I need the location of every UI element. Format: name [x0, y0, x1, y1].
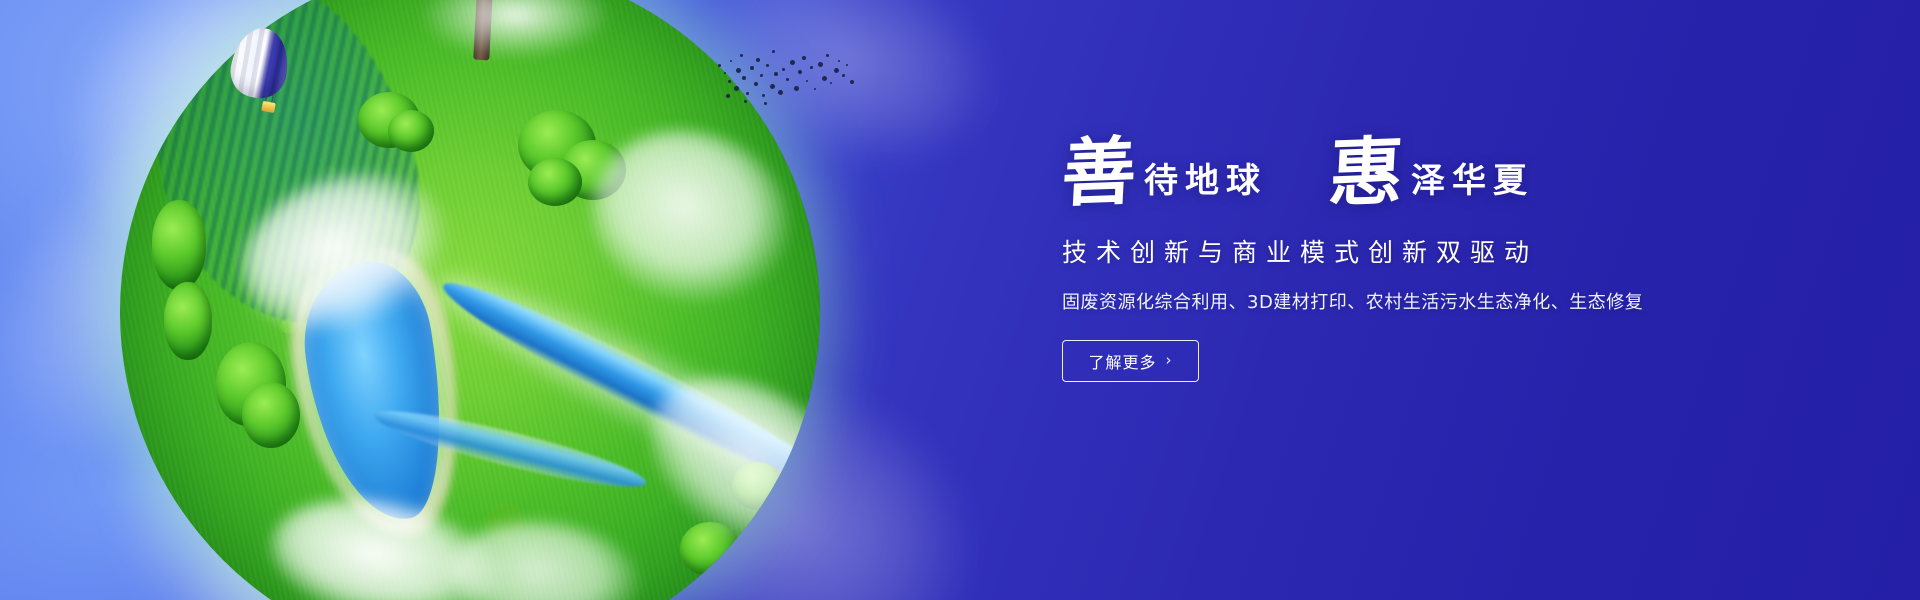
bird-icon [760, 74, 763, 77]
bird-icon [826, 54, 829, 57]
bird-icon [842, 74, 845, 77]
bird-icon [750, 66, 754, 70]
learn-more-label: 了解更多 [1088, 349, 1156, 373]
bird-icon [726, 94, 730, 98]
subtitle: 技术创新与商业模式创新双驱动 [1062, 233, 1822, 269]
river-branch [370, 399, 650, 500]
bird-icon [756, 58, 760, 62]
tree-canopy [242, 382, 300, 448]
hot-air-balloon-icon [232, 28, 288, 124]
page-title: 善 待地球 惠 泽华夏 [1062, 140, 1822, 207]
bird-icon [770, 84, 775, 89]
tagline: 固废资源化综合利用、3D建材打印、农村生活污水生态净化、生态修复 [1062, 288, 1822, 314]
headline-lead-char-1: 善 [1060, 139, 1138, 208]
bird-icon [782, 68, 785, 71]
bird-icon [730, 60, 732, 62]
bird-icon [764, 102, 767, 105]
bird-icon [772, 50, 775, 53]
bird-icon [718, 64, 721, 67]
lake-shore [276, 237, 480, 550]
tree-canopy [358, 92, 420, 148]
hero-copy: 善 待地球 惠 泽华夏 技术创新与商业模式创新双驱动 固废资源化综合利用、3D建… [1062, 140, 1822, 382]
lake [292, 254, 459, 531]
bird-icon [834, 68, 839, 73]
bird-icon [734, 86, 739, 91]
grass-texture [120, 0, 820, 600]
bird-icon [794, 86, 799, 91]
bird-icon [846, 64, 848, 66]
bird-icon [838, 60, 840, 62]
bird-icon [786, 78, 789, 81]
tree-canopy [164, 282, 212, 360]
bird-icon [818, 62, 823, 67]
bird-icon [728, 80, 731, 83]
globe-cloud [445, 512, 645, 600]
tree-canopy [528, 158, 582, 206]
bird-icon [778, 90, 783, 95]
globe-cloud [618, 341, 820, 594]
bird-icon [810, 66, 813, 69]
bird-icon [766, 64, 769, 67]
tree-canopy [680, 522, 740, 576]
hero-banner: 善 待地球 惠 泽华夏 技术创新与商业模式创新双驱动 固废资源化综合利用、3D建… [0, 0, 1920, 600]
river [433, 265, 820, 501]
bird-icon [830, 82, 832, 84]
headline-phrase-2: 惠 泽华夏 [1329, 140, 1534, 207]
headline-rest-2: 泽华夏 [1411, 164, 1534, 207]
bird-icon [814, 88, 816, 90]
bird-icon [806, 80, 808, 82]
bird-icon [762, 94, 765, 97]
bird-icon [774, 72, 778, 76]
bird-icon [850, 80, 854, 84]
tiny-planet-sphere [120, 0, 820, 600]
bird-icon [724, 72, 726, 74]
learn-more-button[interactable]: 了解更多 › [1062, 340, 1199, 382]
bird-icon [798, 70, 802, 74]
bird-icon [790, 60, 795, 65]
bird-icon [740, 54, 743, 57]
bird-icon [742, 76, 746, 80]
headline-lead-char-2: 惠 [1327, 139, 1405, 208]
chevron-right-icon: › [1166, 353, 1173, 368]
bird-icon [802, 56, 806, 60]
globe-cloud [222, 148, 468, 356]
headline-rest-1: 待地球 [1144, 164, 1267, 207]
tree-canopy [518, 110, 596, 180]
globe-cloud [260, 479, 510, 600]
bird-icon [822, 76, 827, 81]
balloon-envelope [226, 24, 293, 103]
balloon-basket [261, 101, 276, 113]
tree-canopy [388, 110, 434, 152]
headline-phrase-1: 善 待地球 [1062, 140, 1267, 207]
bird-icon [746, 92, 749, 95]
bird-flock-icon [716, 42, 856, 108]
tree-canopy [216, 342, 286, 426]
globe-image [120, 0, 820, 600]
bird-icon [736, 68, 741, 73]
tree-canopy [560, 140, 626, 200]
tree-canopy [152, 200, 206, 290]
bird-icon [754, 82, 758, 86]
bird-icon [744, 100, 747, 103]
